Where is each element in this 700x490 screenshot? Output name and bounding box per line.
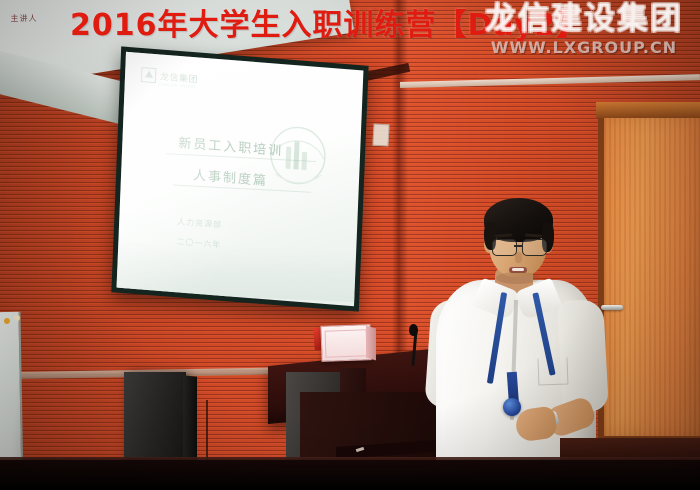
microphone-icon bbox=[409, 324, 418, 336]
nameplate-card-side bbox=[366, 326, 376, 361]
door bbox=[604, 114, 700, 436]
door-wood-grain bbox=[604, 114, 700, 436]
presenter-chin-shadow bbox=[496, 272, 540, 284]
projection-screen: 龙信集团 LONGXIN GROUP 新员工入职培训 人事制度篇 人力资源部 二… bbox=[111, 46, 368, 311]
projection-screen-surface: 龙信集团 LONGXIN GROUP 新员工入职培训 人事制度篇 人力资源部 二… bbox=[117, 52, 364, 306]
slide-company-logo: 龙信集团 LONGXIN GROUP bbox=[141, 67, 198, 86]
glasses-icon bbox=[492, 239, 517, 256]
slide-decorative-emblem bbox=[260, 119, 335, 203]
glasses-bridge bbox=[514, 245, 523, 247]
whiteboard-magnet bbox=[14, 315, 20, 321]
caption-overlay-title: 2016年大学生入职训练营【Day2】 bbox=[70, 9, 587, 43]
screenshot-canvas: 龙信集团 LONGXIN GROUP 新员工入职培训 人事制度篇 人力资源部 二… bbox=[0, 0, 700, 490]
glasses-icon bbox=[522, 239, 547, 256]
foreground-table bbox=[0, 460, 700, 490]
slide-subtitle-line-1: 人力资源部 bbox=[177, 216, 222, 231]
nameplate-text: 主讲人 bbox=[5, 13, 43, 24]
nameplate-border bbox=[325, 329, 368, 357]
door-header-trim bbox=[596, 102, 700, 118]
presenter-right-sleeve bbox=[557, 299, 609, 413]
wall-switch-plate bbox=[372, 124, 389, 147]
whiteboard-magnet bbox=[4, 318, 10, 324]
projection-screen-frame: 龙信集团 LONGXIN GROUP 新员工入职培训 人事制度篇 人力资源部 二… bbox=[111, 46, 368, 311]
nameplate-card bbox=[320, 324, 371, 362]
presenter-teeth bbox=[512, 268, 524, 271]
presenter-nose bbox=[515, 252, 522, 263]
slide-footer-band bbox=[117, 240, 357, 302]
triangle-logo-icon bbox=[141, 67, 157, 83]
id-badge bbox=[503, 398, 521, 416]
door-handle bbox=[601, 305, 623, 310]
